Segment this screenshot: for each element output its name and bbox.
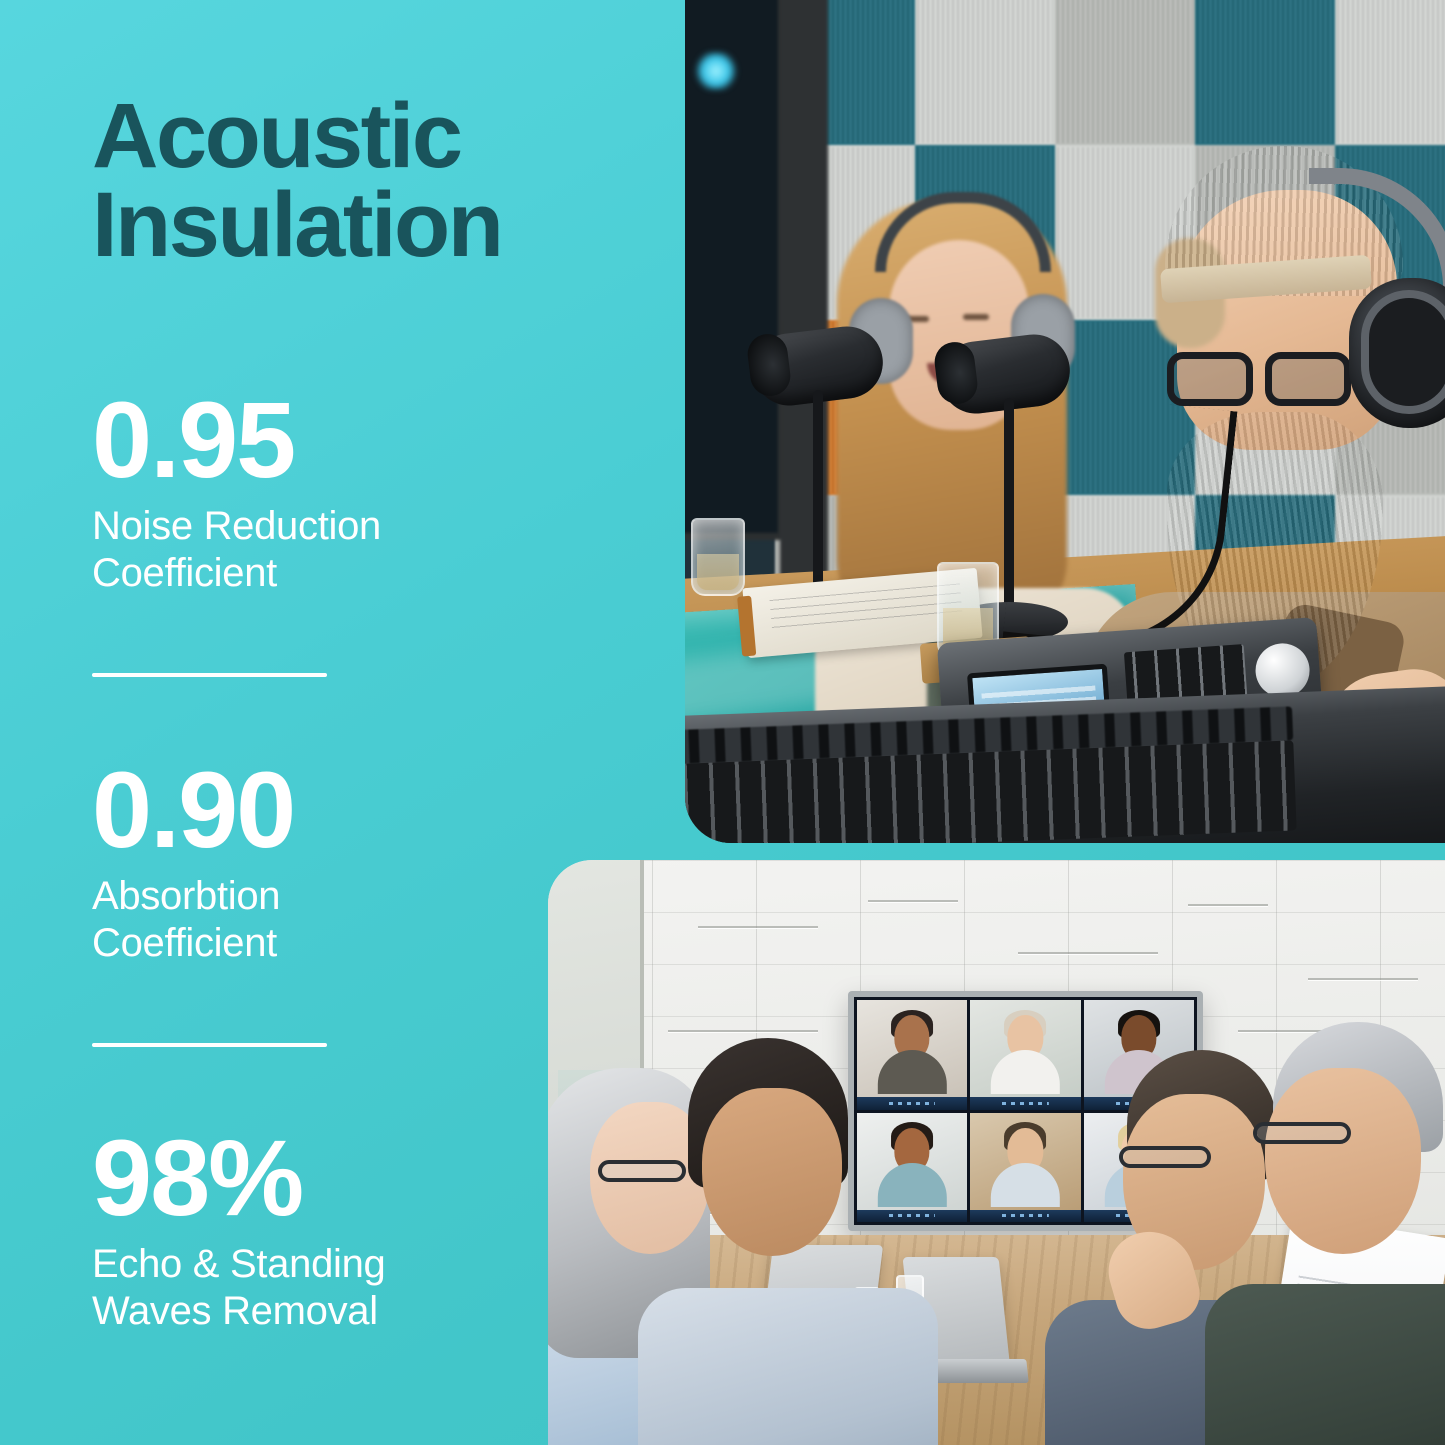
stat-block-noise-reduction: 0.95 Noise Reduction Coefficient [92, 390, 612, 596]
eyeglasses-icon [1119, 1146, 1211, 1168]
headphones-icon [1309, 168, 1445, 428]
jog-wheel [1254, 642, 1312, 700]
attendee-grey-haired-man [1225, 1022, 1445, 1445]
stat-value: 0.95 [92, 390, 612, 489]
stat-label: Absorbtion Coefficient [92, 873, 612, 966]
video-tile [970, 1113, 1080, 1223]
stat-value: 98% [92, 1128, 612, 1227]
studio-light-glow [693, 52, 739, 90]
eyeglasses-icon [1253, 1122, 1351, 1144]
conference-photo [548, 860, 1445, 1445]
video-tile [970, 1000, 1080, 1110]
studio-photo [685, 0, 1445, 843]
stat-block-absorbtion: 0.90 Absorbtion Coefficient [92, 760, 612, 966]
stat-label: Noise Reduction Coefficient [92, 503, 612, 596]
attendee-dark-haired-man [668, 1038, 898, 1445]
stat-value: 0.90 [92, 760, 612, 859]
stat-block-echo-removal: 98% Echo & Standing Waves Removal [92, 1128, 612, 1334]
stat-divider [92, 1043, 327, 1047]
stat-label: Echo & Standing Waves Removal [92, 1241, 612, 1334]
stat-divider [92, 673, 327, 677]
water-glass [691, 518, 745, 596]
page-title: Acoustic Insulation [92, 92, 672, 270]
